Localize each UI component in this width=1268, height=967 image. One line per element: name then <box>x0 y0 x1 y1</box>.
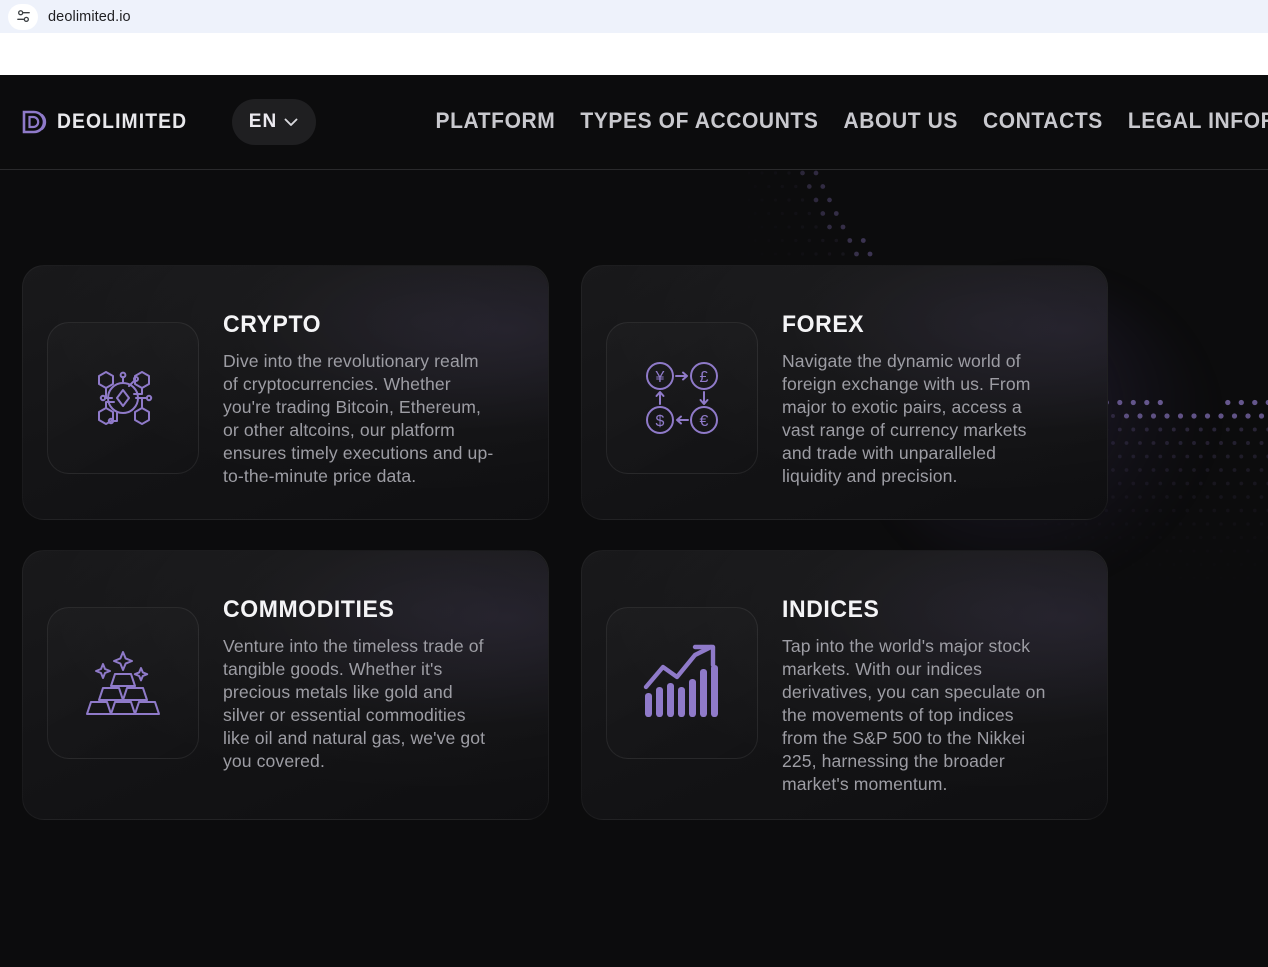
card-crypto-title: CRYPTO <box>223 310 495 338</box>
card-indices-title: INDICES <box>782 595 1052 623</box>
card-indices[interactable]: INDICES Tap into the world's major stock… <box>581 550 1108 820</box>
nav-item-platform[interactable]: PLATFORM <box>436 110 556 135</box>
site-header: DEOLIMITED EN PLATFORM TYPES OF ACCOUNTS… <box>0 75 1268 170</box>
card-commodities-body: COMMODITIES Venture into the timeless tr… <box>223 593 495 773</box>
rising-bar-chart-icon <box>641 643 723 723</box>
card-indices-text: Tap into the world's major stock markets… <box>782 635 1052 796</box>
card-forex-text: Navigate the dynamic world of foreign ex… <box>782 350 1052 488</box>
main-navigation: PLATFORM TYPES OF ACCOUNTS ABOUT US CONT… <box>436 110 1268 134</box>
currency-exchange-icon: ¥ £ $ € <box>640 358 724 438</box>
site-settings-icon <box>15 8 32 25</box>
page-content: DEOLIMITED EN PLATFORM TYPES OF ACCOUNTS… <box>0 75 1268 967</box>
nav-item-types-of-accounts[interactable]: TYPES OF ACCOUNTS <box>580 110 818 135</box>
nav-item-about-us[interactable]: ABOUT US <box>844 110 958 135</box>
card-forex[interactable]: ¥ £ $ € FOREX Navigate the dynamic world… <box>581 265 1108 520</box>
svg-text:£: £ <box>700 369 709 386</box>
url-text[interactable]: deolimited.io <box>48 9 131 25</box>
blockchain-network-icon <box>81 356 165 440</box>
card-indices-icon-box <box>606 607 758 759</box>
card-crypto-text: Dive into the revolutionary realm of cry… <box>223 350 495 488</box>
gold-bars-icon <box>81 648 165 718</box>
card-forex-title: FOREX <box>782 310 1052 338</box>
svg-text:¥: ¥ <box>655 369 665 386</box>
card-commodities-title: COMMODITIES <box>223 595 495 623</box>
card-forex-icon-box: ¥ £ $ € <box>606 322 758 474</box>
brand-logo[interactable]: DEOLIMITED <box>20 108 199 136</box>
browser-viewport-gap <box>0 33 1268 75</box>
svg-text:€: € <box>700 413 709 430</box>
markets-card-grid: CRYPTO Dive into the revolutionary realm… <box>22 265 1108 820</box>
card-forex-body: FOREX Navigate the dynamic world of fore… <box>782 308 1052 488</box>
card-crypto-icon-box <box>47 322 199 474</box>
card-crypto-body: CRYPTO Dive into the revolutionary realm… <box>223 308 495 488</box>
site-settings-button[interactable] <box>8 4 38 30</box>
card-indices-body: INDICES Tap into the world's major stock… <box>782 593 1052 796</box>
card-commodities-text: Venture into the timeless trade of tangi… <box>223 635 495 773</box>
card-commodities[interactable]: COMMODITIES Venture into the timeless tr… <box>22 550 549 820</box>
deolimited-logo-icon <box>20 108 48 136</box>
card-crypto[interactable]: CRYPTO Dive into the revolutionary realm… <box>22 265 549 520</box>
svg-text:$: $ <box>656 413 665 430</box>
browser-address-bar: deolimited.io <box>0 0 1268 33</box>
language-label: EN <box>249 111 277 133</box>
language-selector[interactable]: EN <box>232 99 316 145</box>
nav-item-contacts[interactable]: CONTACTS <box>983 110 1103 135</box>
chevron-down-icon <box>284 118 298 127</box>
brand-name: DEOLIMITED <box>57 110 187 134</box>
card-commodities-icon-box <box>47 607 199 759</box>
nav-item-legal-information[interactable]: LEGAL INFORMAT <box>1128 110 1268 135</box>
